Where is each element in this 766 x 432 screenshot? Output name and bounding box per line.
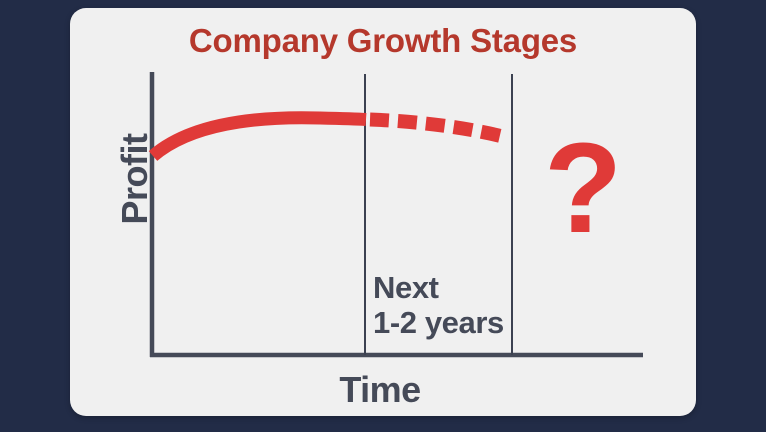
y-axis-label: Profit (114, 99, 156, 259)
stage-annotation: Next 1-2 years (373, 271, 504, 340)
question-mark-icon: ? (544, 125, 620, 253)
growth-curve-solid (153, 118, 366, 156)
stage-annotation-line-2: 1-2 years (373, 306, 504, 341)
x-axis-label: Time (250, 369, 510, 411)
stage-annotation-line-1: Next (373, 271, 504, 306)
screenshot-canvas: Company Growth Stages Profit Time Next 1… (0, 0, 766, 432)
growth-curve-dashed (370, 120, 505, 138)
chart-card: Company Growth Stages Profit Time Next 1… (70, 8, 696, 416)
